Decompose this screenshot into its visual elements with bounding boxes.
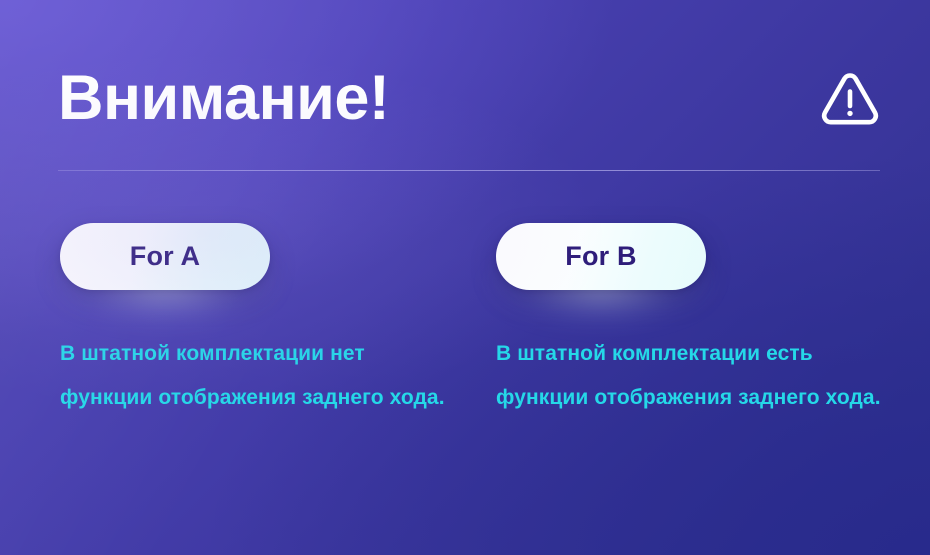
option-column-a: For A В штатной комплектации нет функции…	[60, 223, 270, 555]
option-a-description: В штатной комплектации нет функции отобр…	[60, 332, 445, 420]
for-a-button-label: For A	[130, 243, 201, 270]
option-columns: For A В штатной комплектации нет функции…	[60, 223, 890, 555]
option-b-description: В штатной комплектации есть функции отоб…	[496, 332, 886, 420]
for-b-button[interactable]: For B	[496, 223, 706, 290]
pill-wrap-a: For A	[60, 223, 270, 290]
pill-wrap-b: For B	[496, 223, 706, 290]
warning-triangle-icon	[818, 66, 882, 130]
slide-header: Внимание!	[58, 52, 884, 144]
page-title: Внимание!	[58, 67, 389, 130]
for-a-button[interactable]: For A	[60, 223, 270, 290]
warning-slide: Внимание! For A В штатной комплектации н…	[0, 0, 930, 555]
option-column-b: For B В штатной комплектации есть функци…	[496, 223, 706, 555]
for-b-button-label: For B	[565, 243, 637, 270]
header-divider	[58, 170, 880, 171]
